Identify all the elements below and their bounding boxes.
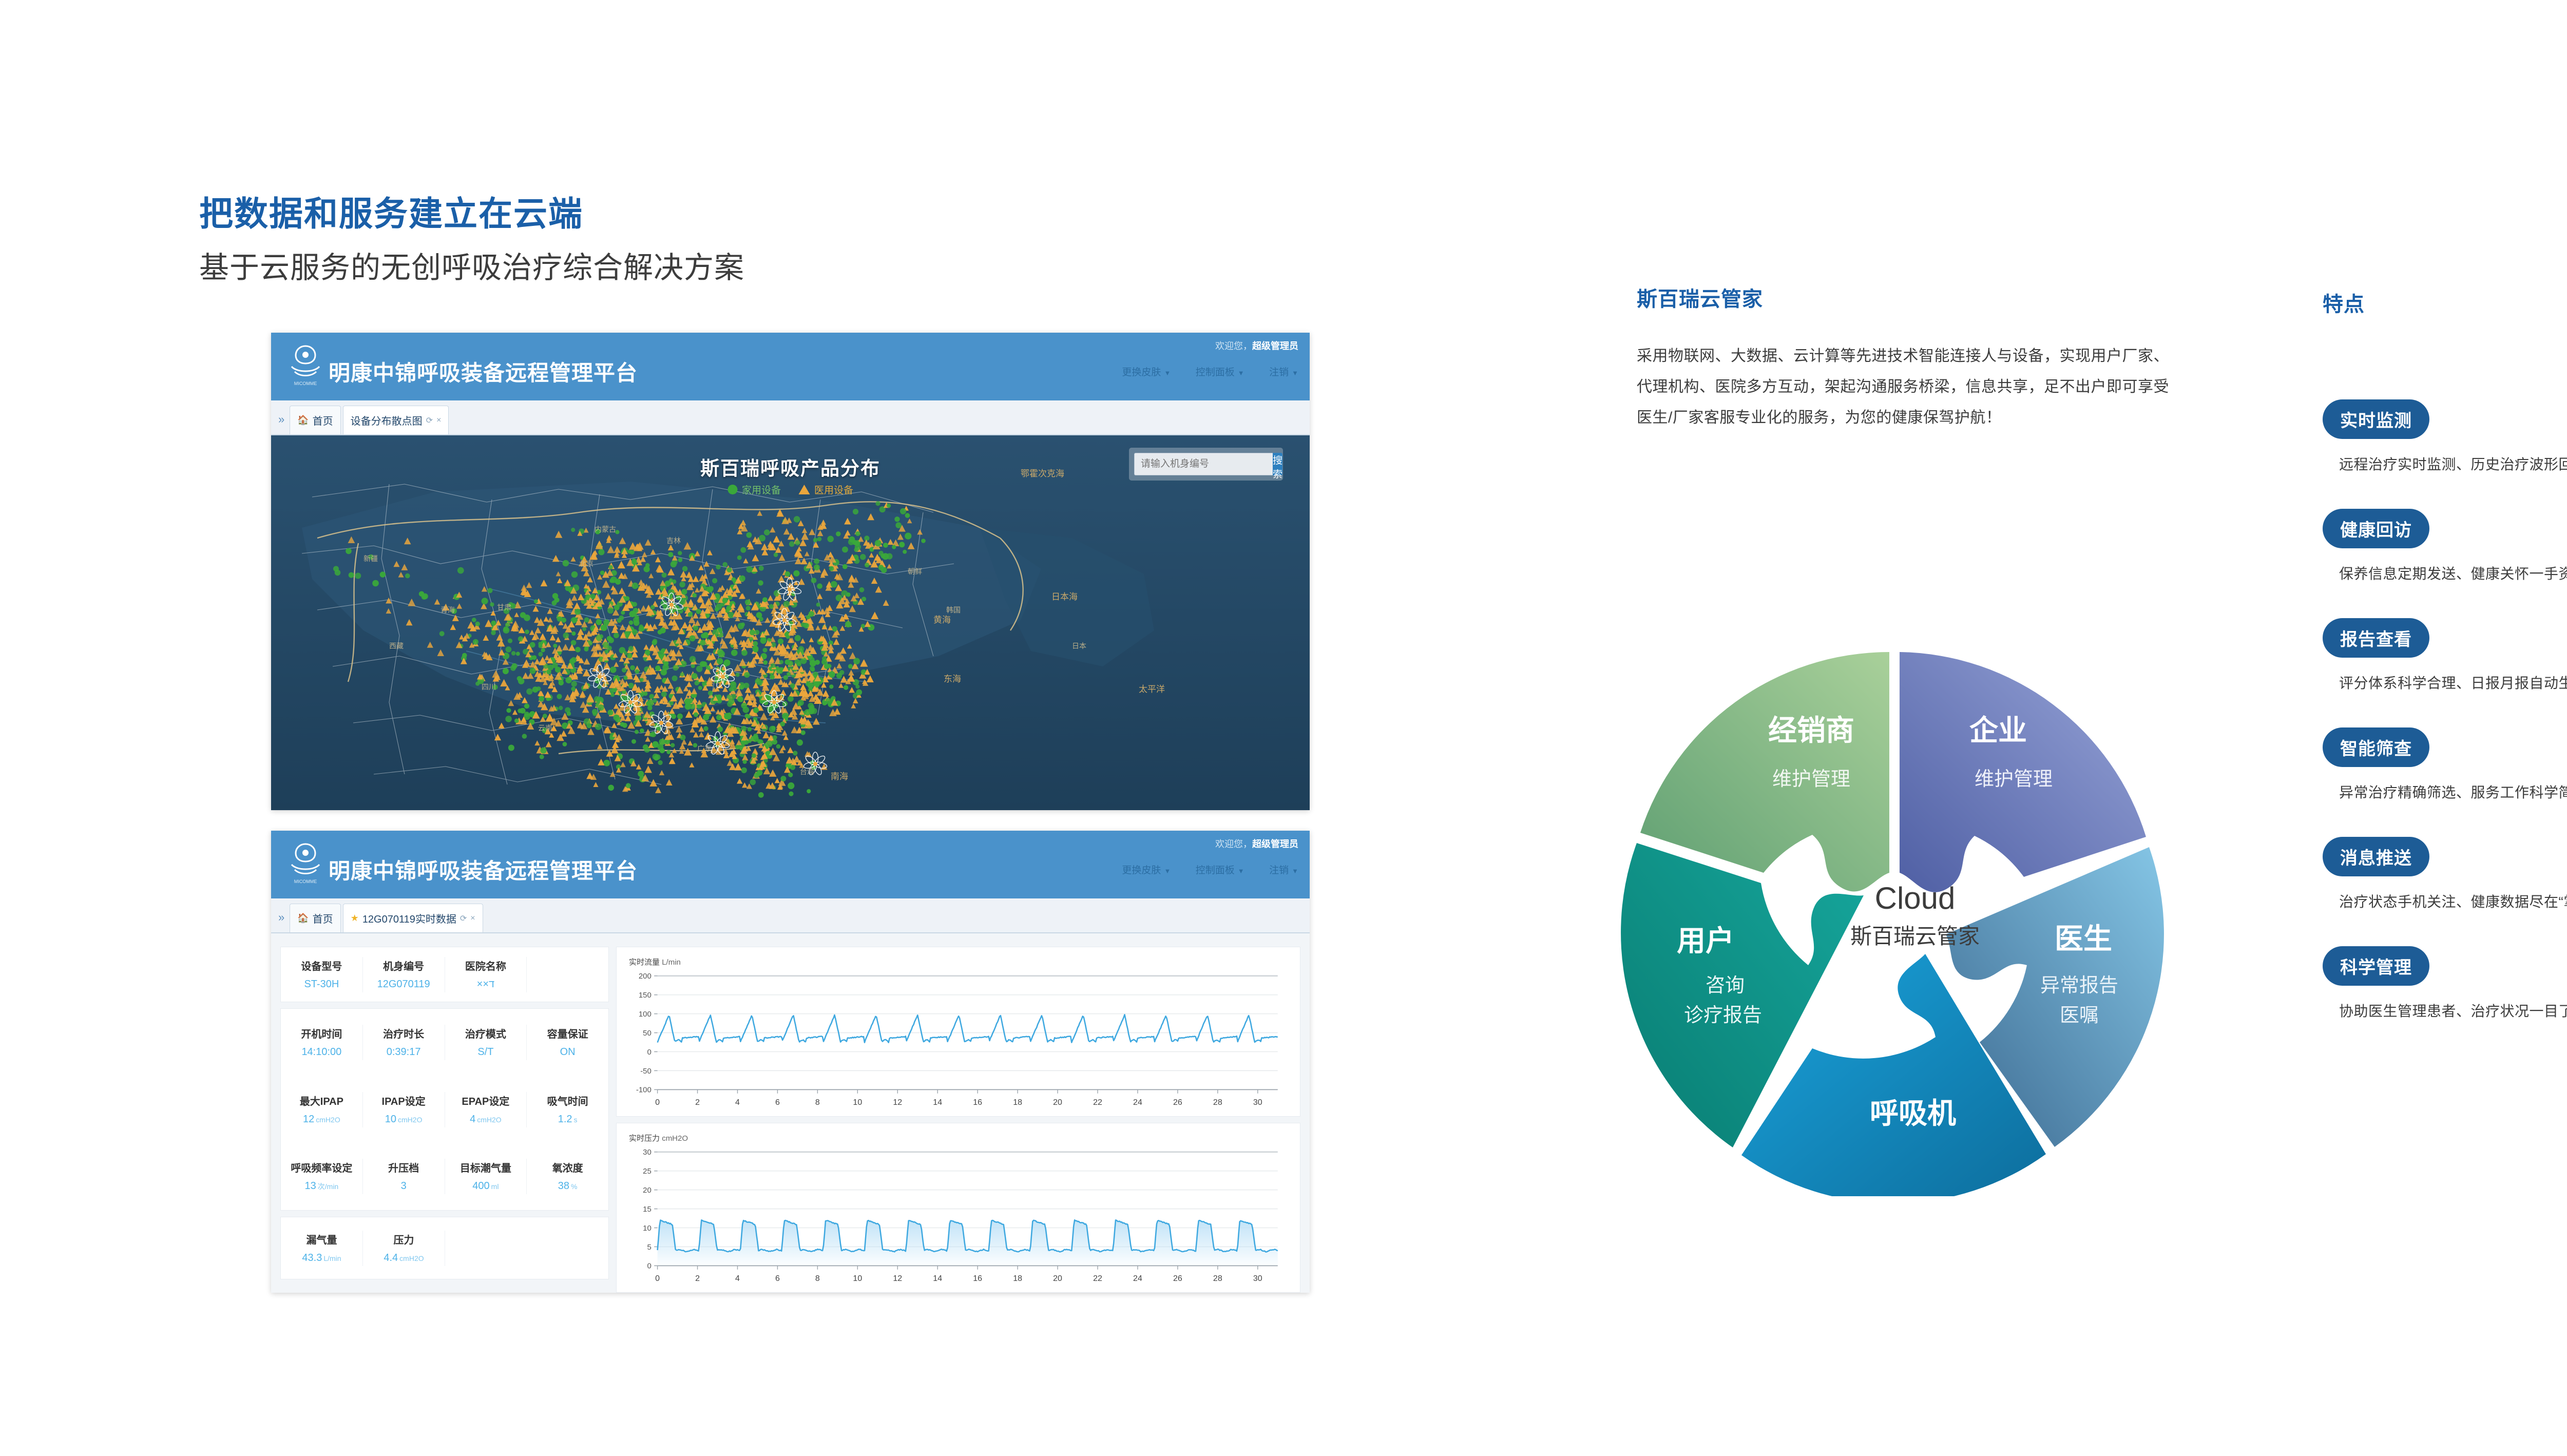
map-marker-medical[interactable] bbox=[695, 587, 700, 592]
map-marker-medical[interactable] bbox=[534, 740, 540, 745]
map-marker-medical[interactable] bbox=[546, 741, 552, 748]
refresh-icon[interactable]: ⟳ bbox=[426, 415, 433, 426]
map-marker-medical[interactable] bbox=[804, 551, 810, 557]
map-marker-home[interactable] bbox=[689, 703, 695, 710]
map-marker-home[interactable] bbox=[717, 658, 723, 664]
feature-pill-1[interactable]: 实时监测 bbox=[2323, 399, 2429, 439]
map-marker-medical[interactable] bbox=[762, 732, 769, 738]
map-marker-medical[interactable] bbox=[534, 617, 540, 623]
map-marker-medical[interactable] bbox=[849, 687, 855, 693]
map-marker-medical[interactable] bbox=[605, 593, 611, 600]
map-marker-home[interactable] bbox=[743, 683, 749, 688]
map-marker-medical[interactable] bbox=[680, 571, 687, 578]
map-marker-home[interactable] bbox=[703, 632, 709, 638]
map-marker-medical[interactable] bbox=[570, 557, 576, 562]
map-marker-medical[interactable] bbox=[746, 746, 751, 751]
map-marker-home[interactable] bbox=[844, 685, 848, 690]
map-marker-home[interactable] bbox=[807, 789, 811, 793]
map-marker-medical[interactable] bbox=[847, 644, 852, 648]
map-marker-home[interactable] bbox=[811, 708, 817, 714]
map-marker-home[interactable] bbox=[510, 665, 516, 671]
map-marker-home[interactable] bbox=[608, 785, 614, 791]
map-marker-home[interactable] bbox=[737, 696, 743, 702]
map-marker-home[interactable] bbox=[632, 602, 637, 607]
map-marker-medical[interactable] bbox=[698, 726, 704, 732]
map-marker-home[interactable] bbox=[691, 664, 695, 668]
sidebar-toggle-icon[interactable]: » bbox=[276, 911, 290, 932]
map-marker-home[interactable] bbox=[526, 688, 532, 695]
map-marker-home[interactable] bbox=[771, 663, 776, 668]
tab-realtime-data[interactable]: ★ 12G070119实时数据 ⟳ × bbox=[343, 904, 483, 932]
map-marker-home[interactable] bbox=[552, 593, 558, 599]
map-marker-medical[interactable] bbox=[844, 518, 851, 525]
map-marker-medical[interactable] bbox=[561, 731, 567, 737]
map-marker-medical[interactable] bbox=[800, 558, 807, 564]
map-marker-home[interactable] bbox=[639, 626, 644, 632]
tab-home[interactable]: 🏠 首页 bbox=[290, 904, 340, 932]
map-marker-home[interactable] bbox=[405, 573, 410, 579]
map-marker-home[interactable] bbox=[716, 715, 722, 720]
map-marker-home[interactable] bbox=[739, 576, 745, 582]
map-marker-home[interactable] bbox=[722, 562, 727, 567]
map-marker-home[interactable] bbox=[582, 627, 586, 631]
map-marker-medical[interactable] bbox=[587, 728, 595, 735]
map-marker-home[interactable] bbox=[741, 650, 748, 656]
map-marker-medical[interactable] bbox=[815, 625, 820, 630]
map-marker-home[interactable] bbox=[539, 696, 544, 702]
map-marker-home[interactable] bbox=[682, 566, 688, 572]
map-marker-medical[interactable] bbox=[698, 565, 704, 570]
map-marker-home[interactable] bbox=[822, 656, 827, 661]
map-marker-medical[interactable] bbox=[404, 538, 411, 544]
map-marker-medical[interactable] bbox=[851, 703, 856, 708]
map-marker-medical[interactable] bbox=[679, 749, 684, 754]
map-marker-medical[interactable] bbox=[822, 690, 829, 697]
map-marker-home[interactable] bbox=[574, 609, 581, 615]
map-marker-medical[interactable] bbox=[710, 706, 715, 711]
map-marker-home[interactable] bbox=[559, 706, 563, 710]
map-marker-medical[interactable] bbox=[883, 600, 889, 606]
map-marker-medical[interactable] bbox=[834, 708, 840, 715]
map-marker-medical[interactable] bbox=[818, 616, 826, 623]
map-marker-medical[interactable] bbox=[871, 612, 878, 620]
map-marker-home[interactable] bbox=[718, 726, 723, 732]
map-marker-medical[interactable] bbox=[838, 683, 844, 688]
map-marker-home[interactable] bbox=[563, 633, 569, 639]
map-marker-home[interactable] bbox=[621, 610, 625, 615]
map-marker-medical[interactable] bbox=[820, 568, 828, 576]
map-marker-medical[interactable] bbox=[640, 605, 647, 612]
map-marker-home[interactable] bbox=[565, 677, 572, 684]
map-marker-medical[interactable] bbox=[555, 531, 562, 538]
map-marker-home[interactable] bbox=[905, 513, 910, 518]
map-marker-home[interactable] bbox=[673, 665, 678, 670]
map-marker-home[interactable] bbox=[677, 714, 683, 719]
map-marker-home[interactable] bbox=[903, 550, 907, 554]
map-marker-home[interactable] bbox=[816, 603, 820, 607]
map-marker-home[interactable] bbox=[660, 748, 665, 753]
map-marker-medical[interactable] bbox=[840, 647, 847, 654]
map-marker-medical[interactable] bbox=[849, 605, 856, 612]
map-marker-home[interactable] bbox=[787, 672, 791, 676]
map-marker-home[interactable] bbox=[645, 649, 650, 655]
map-marker-home[interactable] bbox=[712, 629, 719, 636]
map-marker-home[interactable] bbox=[731, 649, 738, 656]
map-marker-medical[interactable] bbox=[800, 638, 806, 643]
map-marker-medical[interactable] bbox=[643, 644, 649, 650]
map-marker-home[interactable] bbox=[848, 664, 853, 668]
map-marker-home[interactable] bbox=[883, 543, 888, 548]
map-marker-home[interactable] bbox=[658, 630, 662, 635]
map-marker-home[interactable] bbox=[662, 664, 669, 671]
map-marker-home[interactable] bbox=[505, 716, 512, 722]
map-marker-medical[interactable] bbox=[556, 571, 561, 577]
map-marker-medical[interactable] bbox=[672, 748, 677, 753]
map-marker-medical[interactable] bbox=[676, 726, 682, 733]
map-marker-medical[interactable] bbox=[888, 539, 894, 545]
map-marker-home[interactable] bbox=[584, 718, 590, 725]
map-marker-medical[interactable] bbox=[386, 608, 392, 614]
map-marker-medical[interactable] bbox=[595, 613, 600, 618]
map-marker-home[interactable] bbox=[822, 701, 827, 706]
map-marker-home[interactable] bbox=[540, 755, 544, 759]
map-marker-home[interactable] bbox=[524, 712, 529, 717]
map-marker-home[interactable] bbox=[644, 566, 650, 572]
map-marker-home[interactable] bbox=[541, 648, 545, 652]
map-marker-medical[interactable] bbox=[813, 542, 819, 548]
map-marker-medical[interactable] bbox=[557, 578, 563, 583]
map-marker-home[interactable] bbox=[815, 660, 820, 665]
map-marker-home[interactable] bbox=[678, 551, 682, 555]
map-marker-home[interactable] bbox=[508, 639, 512, 643]
map-marker-medical[interactable] bbox=[636, 764, 642, 770]
map-marker-home[interactable] bbox=[739, 684, 744, 689]
map-marker-home[interactable] bbox=[590, 594, 596, 600]
map-marker-medical[interactable] bbox=[629, 542, 637, 549]
map-marker-medical[interactable] bbox=[667, 683, 674, 689]
map-marker-home[interactable] bbox=[827, 536, 834, 543]
map-marker-medical[interactable] bbox=[669, 758, 676, 764]
map-marker-home[interactable] bbox=[661, 691, 667, 697]
map-marker-home[interactable] bbox=[557, 616, 563, 622]
map-marker-medical[interactable] bbox=[686, 681, 693, 687]
map-marker-medical[interactable] bbox=[853, 698, 858, 703]
menu-control-panel[interactable]: 控制面板▼ bbox=[1196, 863, 1244, 876]
map-marker-home[interactable] bbox=[855, 531, 860, 536]
map-marker-home[interactable] bbox=[575, 647, 581, 653]
map-marker-home[interactable] bbox=[632, 583, 639, 589]
map-marker-medical[interactable] bbox=[742, 782, 748, 788]
map-marker-medical[interactable] bbox=[398, 572, 404, 578]
map-marker-medical[interactable] bbox=[817, 593, 822, 599]
map-marker-medical[interactable] bbox=[645, 539, 652, 546]
map-marker-home[interactable] bbox=[539, 644, 543, 648]
map-marker-home[interactable] bbox=[694, 681, 699, 685]
map-marker-medical[interactable] bbox=[840, 626, 846, 631]
map-marker-home[interactable] bbox=[665, 581, 671, 586]
map-marker-medical[interactable] bbox=[871, 578, 877, 584]
map-marker-medical[interactable] bbox=[544, 617, 549, 622]
map-marker-home[interactable] bbox=[506, 708, 511, 713]
map-marker-home[interactable] bbox=[753, 646, 759, 652]
map-marker-medical[interactable] bbox=[659, 770, 664, 775]
map-marker-home[interactable] bbox=[861, 597, 866, 601]
map-marker-home[interactable] bbox=[609, 579, 614, 583]
map-marker-home[interactable] bbox=[829, 671, 835, 678]
map-marker-home[interactable] bbox=[848, 539, 854, 545]
map-marker-home[interactable] bbox=[793, 570, 799, 577]
map-marker-home[interactable] bbox=[538, 652, 543, 657]
map-marker-home[interactable] bbox=[824, 664, 830, 669]
map-marker-home[interactable] bbox=[534, 599, 538, 603]
map-marker-medical[interactable] bbox=[773, 754, 780, 761]
map-marker-home[interactable] bbox=[635, 730, 639, 734]
map-marker-home[interactable] bbox=[569, 659, 575, 664]
map-marker-home[interactable] bbox=[783, 675, 788, 680]
map-marker-medical[interactable] bbox=[778, 679, 784, 685]
map-marker-medical[interactable] bbox=[795, 558, 802, 565]
close-icon[interactable]: × bbox=[470, 914, 475, 923]
map-marker-home[interactable] bbox=[754, 734, 758, 738]
map-marker-home[interactable] bbox=[571, 686, 576, 691]
map-marker-home[interactable] bbox=[631, 739, 636, 744]
map-marker-home[interactable] bbox=[635, 669, 640, 674]
map-marker-medical[interactable] bbox=[503, 659, 509, 665]
map-marker-home[interactable] bbox=[688, 612, 693, 617]
map-marker-home[interactable] bbox=[439, 631, 445, 636]
map-marker-home[interactable] bbox=[631, 559, 637, 565]
map-marker-home[interactable] bbox=[708, 691, 713, 696]
map-marker-home[interactable] bbox=[794, 516, 800, 523]
map-marker-medical[interactable] bbox=[737, 778, 742, 784]
map-marker-medical[interactable] bbox=[514, 612, 520, 617]
map-marker-medical[interactable] bbox=[611, 723, 617, 728]
map-marker-medical[interactable] bbox=[597, 574, 602, 580]
map-marker-home[interactable] bbox=[625, 596, 629, 601]
map-marker-home[interactable] bbox=[543, 714, 547, 718]
map-marker-medical[interactable] bbox=[716, 710, 721, 715]
map-marker-home[interactable] bbox=[703, 726, 708, 731]
map-marker-home[interactable] bbox=[832, 626, 837, 632]
map-marker-home[interactable] bbox=[793, 751, 797, 755]
map-marker-home[interactable] bbox=[537, 686, 541, 691]
map-marker-medical[interactable] bbox=[704, 732, 712, 739]
map-marker-home[interactable] bbox=[865, 563, 869, 567]
map-marker-home[interactable] bbox=[759, 535, 765, 542]
map-marker-home[interactable] bbox=[776, 667, 783, 674]
map-marker-home[interactable] bbox=[655, 665, 661, 671]
map-marker-medical[interactable] bbox=[490, 610, 495, 616]
map-marker-medical[interactable] bbox=[769, 770, 777, 777]
map-marker-home[interactable] bbox=[817, 583, 822, 589]
map-marker-home[interactable] bbox=[813, 538, 818, 543]
map-marker-home[interactable] bbox=[770, 675, 775, 680]
map-marker-home[interactable] bbox=[736, 673, 740, 677]
map-marker-home[interactable] bbox=[595, 723, 602, 730]
map-marker-medical[interactable] bbox=[740, 520, 746, 525]
map-marker-home[interactable] bbox=[712, 578, 717, 583]
map-marker-home[interactable] bbox=[887, 504, 891, 508]
map-marker-medical[interactable] bbox=[482, 586, 487, 592]
map-marker-home[interactable] bbox=[727, 713, 732, 717]
map-marker-home[interactable] bbox=[553, 644, 557, 648]
map-marker-home[interactable] bbox=[668, 552, 673, 557]
map-marker-home[interactable] bbox=[619, 616, 624, 621]
map-marker-home[interactable] bbox=[634, 620, 640, 626]
map-marker-home[interactable] bbox=[836, 531, 841, 537]
map-marker-medical[interactable] bbox=[770, 527, 775, 532]
map-marker-medical[interactable] bbox=[650, 549, 656, 554]
map-marker-medical[interactable] bbox=[619, 537, 626, 544]
map-marker-medical[interactable] bbox=[691, 688, 697, 694]
map-marker-medical[interactable] bbox=[611, 626, 618, 633]
map-marker-home[interactable] bbox=[571, 528, 575, 532]
map-marker-medical[interactable] bbox=[499, 649, 505, 656]
map-marker-home[interactable] bbox=[607, 710, 613, 715]
map-marker-home[interactable] bbox=[715, 607, 719, 611]
map-marker-medical[interactable] bbox=[450, 624, 456, 630]
map-marker-home[interactable] bbox=[759, 566, 764, 571]
map-marker-home[interactable] bbox=[716, 565, 721, 570]
map-marker-home[interactable] bbox=[753, 707, 759, 713]
map-marker-medical[interactable] bbox=[820, 520, 826, 525]
map-marker-medical[interactable] bbox=[875, 586, 882, 593]
map-marker-home[interactable] bbox=[628, 646, 634, 652]
map-marker-home[interactable] bbox=[635, 616, 639, 620]
map-canvas[interactable]: 斯百瑞呼吸产品分布 家用设备 医用设备 搜索 鄂霍次克海 太平洋 黄海 东海 南… bbox=[271, 435, 1310, 810]
map-marker-home[interactable] bbox=[795, 635, 801, 641]
map-marker-home[interactable] bbox=[614, 633, 619, 638]
map-marker-medical[interactable] bbox=[797, 546, 802, 551]
map-marker-home[interactable] bbox=[584, 647, 588, 652]
map-marker-home[interactable] bbox=[752, 753, 756, 758]
map-marker-medical[interactable] bbox=[760, 713, 768, 720]
map-marker-home[interactable] bbox=[746, 566, 753, 573]
map-marker-home[interactable] bbox=[782, 713, 789, 719]
map-marker-home[interactable] bbox=[789, 792, 793, 796]
map-marker-home[interactable] bbox=[750, 629, 755, 635]
map-marker-home[interactable] bbox=[490, 602, 494, 606]
map-marker-home[interactable] bbox=[797, 739, 803, 745]
map-marker-medical[interactable] bbox=[869, 552, 874, 558]
map-marker-medical[interactable] bbox=[670, 689, 676, 695]
map-marker-medical[interactable] bbox=[437, 649, 445, 656]
map-marker-home[interactable] bbox=[530, 642, 535, 648]
map-marker-home[interactable] bbox=[684, 699, 691, 705]
map-marker-medical[interactable] bbox=[685, 711, 693, 718]
map-marker-home[interactable] bbox=[638, 771, 644, 777]
map-marker-home[interactable] bbox=[530, 668, 536, 674]
map-marker-home[interactable] bbox=[482, 598, 488, 604]
map-marker-medical[interactable] bbox=[862, 679, 867, 684]
map-marker-home[interactable] bbox=[346, 548, 352, 554]
map-marker-medical[interactable] bbox=[494, 734, 501, 740]
map-marker-home[interactable] bbox=[522, 734, 527, 739]
menu-change-skin[interactable]: 更换皮肤▼ bbox=[1122, 365, 1171, 378]
map-marker-home[interactable] bbox=[905, 533, 911, 540]
map-marker-home[interactable] bbox=[764, 529, 770, 535]
map-marker-medical[interactable] bbox=[618, 561, 625, 569]
map-marker-home[interactable] bbox=[563, 742, 567, 746]
map-marker-home[interactable] bbox=[622, 723, 627, 728]
map-marker-home[interactable] bbox=[626, 783, 631, 788]
map-marker-home[interactable] bbox=[505, 623, 510, 627]
map-marker-medical[interactable] bbox=[452, 615, 459, 621]
map-marker-medical[interactable] bbox=[799, 539, 807, 546]
map-marker-home[interactable] bbox=[778, 639, 783, 644]
map-marker-medical[interactable] bbox=[743, 558, 748, 563]
feature-pill-5[interactable]: 消息推送 bbox=[2323, 837, 2429, 876]
map-marker-medical[interactable] bbox=[562, 644, 569, 650]
map-marker-home[interactable] bbox=[722, 598, 728, 603]
map-marker-home[interactable] bbox=[624, 676, 628, 680]
map-marker-medical[interactable] bbox=[761, 543, 768, 550]
map-marker-home[interactable] bbox=[769, 604, 774, 609]
map-marker-home[interactable] bbox=[603, 642, 609, 648]
tab-home[interactable]: 🏠 首页 bbox=[290, 406, 340, 434]
map-marker-home[interactable] bbox=[771, 726, 776, 731]
map-marker-medical[interactable] bbox=[526, 582, 532, 588]
search-button[interactable]: 搜索 bbox=[1273, 453, 1282, 475]
map-marker-home[interactable] bbox=[746, 714, 751, 719]
map-marker-home[interactable] bbox=[773, 735, 777, 740]
map-marker-home[interactable] bbox=[724, 659, 731, 666]
map-marker-home[interactable] bbox=[789, 541, 795, 547]
map-marker-medical[interactable] bbox=[752, 554, 759, 562]
map-marker-medical[interactable] bbox=[614, 662, 619, 667]
map-marker-home[interactable] bbox=[829, 684, 833, 688]
map-marker-home[interactable] bbox=[757, 739, 762, 744]
refresh-icon[interactable]: ⟳ bbox=[460, 913, 467, 924]
map-marker-medical[interactable] bbox=[496, 634, 503, 641]
feature-pill-3[interactable]: 报告查看 bbox=[2323, 618, 2429, 658]
map-marker-medical[interactable] bbox=[456, 603, 462, 608]
map-marker-home[interactable] bbox=[700, 640, 706, 645]
map-marker-home[interactable] bbox=[475, 622, 480, 626]
tab-device-scatter[interactable]: 设备分布散点图 ⟳ × bbox=[343, 406, 449, 434]
map-marker-home[interactable] bbox=[514, 719, 519, 723]
map-marker-home[interactable] bbox=[680, 735, 686, 740]
map-marker-medical[interactable] bbox=[659, 685, 664, 690]
map-marker-medical[interactable] bbox=[598, 759, 604, 765]
map-marker-home[interactable] bbox=[860, 554, 866, 560]
map-marker-home[interactable] bbox=[757, 770, 762, 775]
map-marker-medical[interactable] bbox=[523, 659, 530, 667]
map-marker-home[interactable] bbox=[457, 567, 464, 574]
map-marker-medical[interactable] bbox=[545, 692, 551, 698]
map-marker-home[interactable] bbox=[753, 641, 758, 646]
map-marker-home[interactable] bbox=[817, 537, 822, 542]
map-marker-home[interactable] bbox=[604, 649, 608, 654]
map-marker-home[interactable] bbox=[758, 792, 764, 798]
map-marker-medical[interactable] bbox=[908, 542, 915, 549]
map-marker-medical[interactable] bbox=[782, 730, 788, 736]
map-marker-home[interactable] bbox=[473, 639, 478, 645]
map-marker-home[interactable] bbox=[335, 570, 341, 576]
map-marker-home[interactable] bbox=[487, 588, 492, 593]
map-marker-home[interactable] bbox=[503, 668, 509, 674]
map-marker-home[interactable] bbox=[671, 561, 677, 567]
map-marker-home[interactable] bbox=[355, 573, 361, 579]
map-marker-home[interactable] bbox=[760, 638, 767, 644]
map-marker-medical[interactable] bbox=[577, 665, 584, 671]
map-marker-medical[interactable] bbox=[406, 619, 413, 626]
close-icon[interactable]: × bbox=[436, 416, 441, 425]
map-marker-home[interactable] bbox=[584, 617, 589, 622]
map-marker-medical[interactable] bbox=[768, 595, 773, 601]
map-marker-medical[interactable] bbox=[644, 622, 650, 628]
map-marker-medical[interactable] bbox=[801, 532, 809, 540]
